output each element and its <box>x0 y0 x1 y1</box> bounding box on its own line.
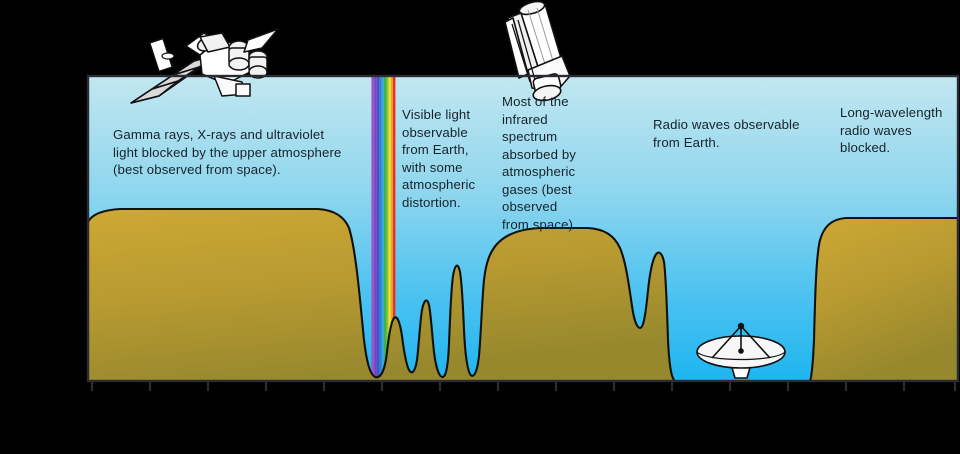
label-visible-light: Visible light observable from Earth, wit… <box>402 106 476 211</box>
axis-ticks <box>92 381 955 391</box>
atmospheric-opacity-figure: Gamma rays, X-rays and ultraviolet light… <box>0 0 960 454</box>
diagram-canvas <box>0 0 960 454</box>
longwave-blocked-region <box>810 218 958 381</box>
label-radio-waves: Radio waves observable from Earth. <box>653 116 823 151</box>
label-infrared: Most of the infrared spectrum absorbed b… <box>502 93 598 233</box>
label-long-wavelength-radio: Long-wavelength radio waves blocked. <box>840 104 946 157</box>
label-gamma-xray-uv: Gamma rays, X-rays and ultraviolet light… <box>113 126 403 179</box>
